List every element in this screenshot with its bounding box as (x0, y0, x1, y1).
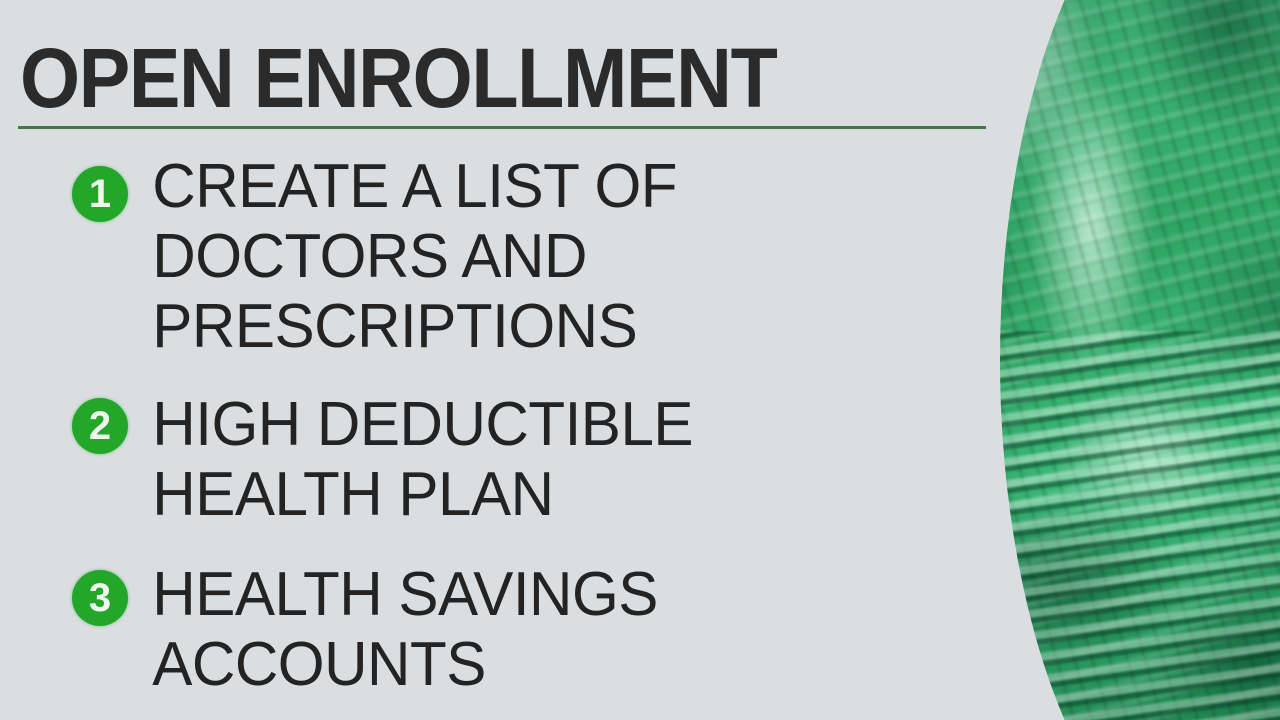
title-divider (18, 126, 986, 129)
list-item-label: HIGH DEDUCTIBLE HEALTH PLAN (0, 390, 970, 530)
numbered-list: 1 CREATE A LIST OF DOCTORS AND PRESCRIPT… (0, 152, 1000, 700)
list-item-label: CREATE A LIST OF DOCTORS AND PRESCRIPTIO… (0, 152, 970, 362)
list-item: 2 HIGH DEDUCTIBLE HEALTH PLAN (0, 390, 1000, 530)
broadcast-graphic-slide: OPEN ENROLLMENT 1 CREATE A LIST OF DOCTO… (0, 0, 1280, 720)
list-item: 1 CREATE A LIST OF DOCTORS AND PRESCRIPT… (0, 152, 1000, 362)
currency-photo-panel (955, 0, 1280, 720)
currency-photo-vignette (955, 0, 1280, 720)
page-title: OPEN ENROLLMENT (20, 36, 776, 120)
list-item: 3 HEALTH SAVINGS ACCOUNTS (0, 560, 1000, 700)
list-item-label: HEALTH SAVINGS ACCOUNTS (0, 560, 970, 700)
